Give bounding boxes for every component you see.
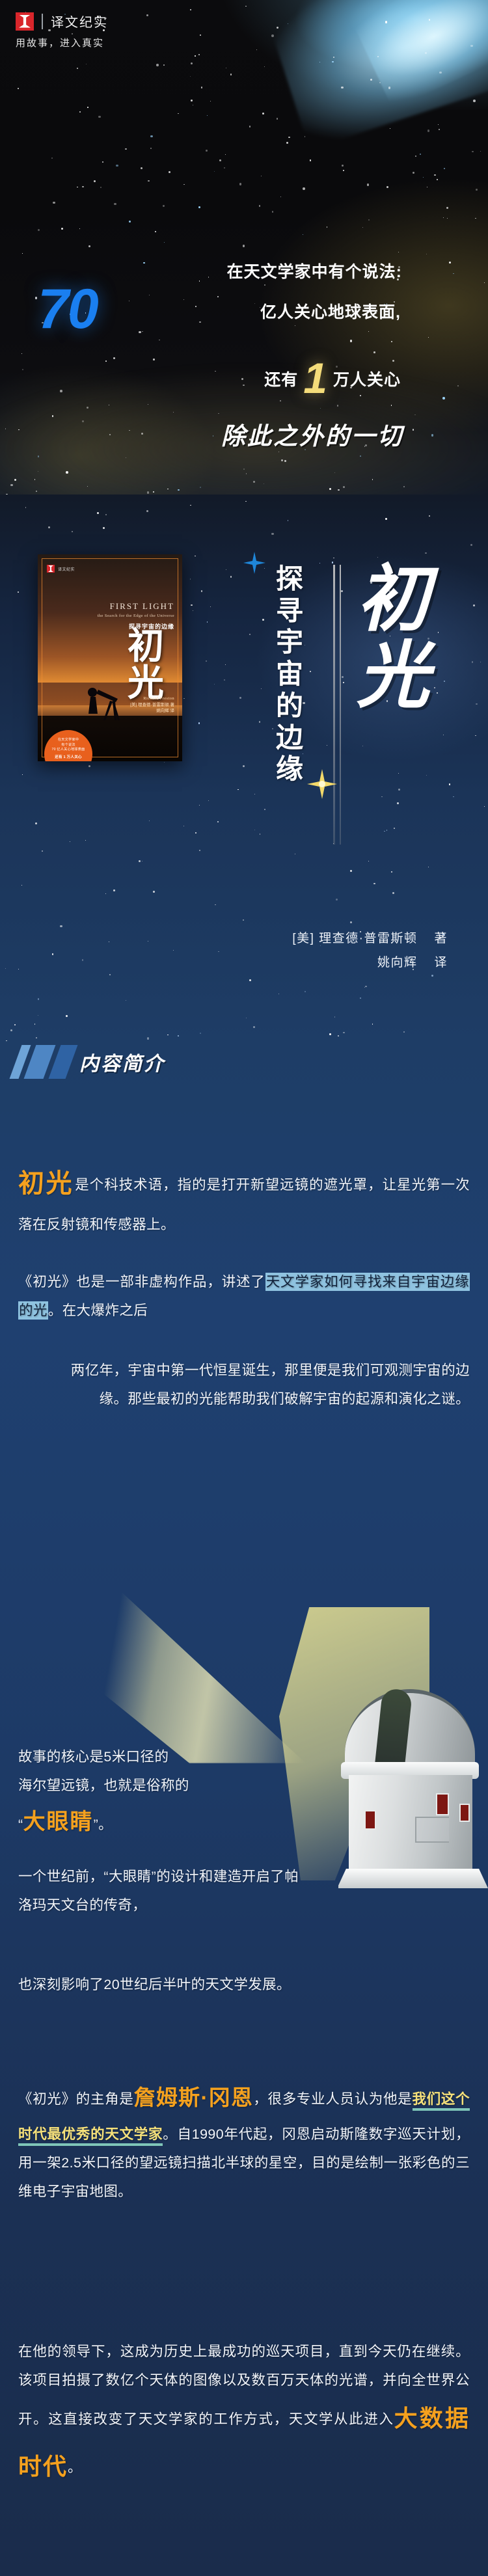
paragraph-sdss-legacy: 在他的领导下，这成为历史上最成功的巡天项目，直到今天仍在继续。该项目拍摄了数亿个… [18, 2337, 470, 2491]
four-point-star-icon [243, 552, 265, 574]
cover-translator-cn: 姚向辉 译 [130, 708, 174, 714]
paragraph-firststars: 两亿年，宇宙中第一代恒星诞生，那里便是我们可观测宇宙的边缘。那些最初的光能帮助我… [53, 1356, 470, 1413]
author-role: 著 [434, 932, 448, 945]
paragraph-hale-telescope: 故事的核心是5米口径的 海尔望远镜，也就是俗称的 “大眼睛”。 [18, 1742, 305, 1845]
dome-hemisphere [345, 1689, 475, 1774]
headline-line-2: 亿人关心地球表面, [0, 299, 401, 323]
paragraph-nonfiction: 《初光》也是一部非虚构作品，讲述了天文学家如何寻找来自宇宙边缘的光。在大爆炸之后 [18, 1268, 470, 1325]
gunn-text-before: 《初光》的主角是 [18, 2091, 134, 2107]
title-divider-line-2 [340, 565, 341, 845]
gunn-name: 詹姆斯·冈恩 [134, 2085, 254, 2109]
hero-section: 译文纪实 用故事，进入真实 在天文学家中有个说法: 70 亿人关心地球表面, 还… [0, 0, 488, 495]
cover-chinese-title: 初光 [116, 627, 176, 701]
cover-imprint-name: 译文纪实 [58, 566, 75, 572]
translator-role: 译 [434, 956, 448, 969]
dome-window-3 [459, 1804, 470, 1822]
badge-line-1: 在天文学家中 [58, 738, 79, 742]
cover-author-en: Richard Preston [130, 696, 174, 702]
legacy-text-after: 。 [68, 2460, 82, 2475]
headline-line-4: 除此之外的一切 [0, 416, 403, 452]
big-eye-nickname: 大眼睛 [23, 1810, 94, 1834]
vertical-subtitle: 探寻宇宙的边缘 [269, 563, 310, 785]
big-eye-quote-open: “ [18, 1817, 23, 1832]
author-name: [美] 理查德·普雷斯顿 [292, 932, 417, 945]
hale-line-1: 故事的核心是5米口径的 [18, 1749, 169, 1765]
gold-sparkle-icon [306, 768, 338, 800]
dome-window-2 [436, 1793, 449, 1815]
paragraph-definition-text: 是个科技术语，指的是打开新望远镜的遮光罩，让星光第一次落在反射镜和传感器上。 [18, 1177, 470, 1232]
observatory-dome-photo [338, 1689, 488, 1897]
paragraph-20th-century: 也深刻影响了20世纪后半叶的天文学发展。 [18, 1970, 470, 1999]
nonfiction-text-after: 。在大爆炸之后 [48, 1303, 148, 1318]
main-title: 初光 [357, 561, 474, 714]
cover-english-subtitle: the Search for the Edge of the Universe [98, 614, 174, 618]
paragraph-palomar: 一个世纪前，“大眼睛”的设计和建造开启了帕洛玛天文台的传奇， [18, 1862, 305, 1919]
cover-english-title: FIRST LIGHT [98, 601, 174, 612]
headline-line-3-after: 万人关心 [333, 371, 401, 389]
cover-imprint-logo: 译文纪实 [47, 565, 75, 573]
big-eye-quote-close: ” [94, 1817, 99, 1832]
headline-line-3: 还有1万人关心 [0, 363, 401, 394]
brand-slogan: 用故事，进入真实 [16, 36, 108, 49]
dome-slit [375, 1689, 413, 1769]
badge-line-3: 70 亿人关心地球表面 [52, 748, 85, 752]
credits-block: [美] 理查德·普雷斯顿著 姚向辉译 [0, 927, 448, 975]
title-divider-line-1 [333, 565, 335, 845]
badge-line-2: 有个说法 [61, 743, 75, 747]
badge-line-4: 还有 1 万人关心 [44, 755, 92, 760]
nonfiction-text-before: 《初光》也是一部非虚构作品，讲述了 [18, 1274, 265, 1290]
brand-logo: 译文纪实 用故事，进入真实 [16, 12, 108, 49]
paragraph-james-gunn: 《初光》的主角是詹姆斯·冈恩，很多专业人员认为他是我们这个时代最优秀的天文学家。… [18, 2076, 470, 2206]
translator-name: 姚向辉 [377, 956, 418, 969]
headline-number-1: 1 [303, 363, 328, 394]
logo-divider [42, 14, 43, 29]
hourglass-mark-icon [16, 12, 34, 31]
headline-line-3-before: 还有 [264, 371, 298, 389]
cover-author-cn: [美] 理查德·普雷斯顿 著 [130, 702, 174, 709]
book-cover-image: 译文纪实 FIRST LIGHT the Search for the Edge… [38, 554, 182, 761]
paragraph-lead-word: 初光 [18, 1169, 74, 1198]
hale-line-2: 海尔望远镜，也就是俗称的 [18, 1778, 189, 1793]
cover-hourglass-icon [47, 565, 55, 573]
gunn-text-mid: ，很多专业人员认为他是 [253, 2091, 412, 2107]
paragraph-definition: 初光是个科技术语，指的是打开新望远镜的遮光罩，让星光第一次落在反射镜和传感器上。 [18, 1157, 470, 1239]
big-eye-period: 。 [98, 1817, 113, 1832]
section-heading-label: 内容简介 [79, 1048, 165, 1076]
dome-base-platform [338, 1869, 488, 1888]
dome-railing [415, 1817, 449, 1843]
section-heading-intro: 内容简介 [0, 1040, 488, 1085]
cover-english-block: FIRST LIGHT the Search for the Edge of t… [98, 601, 174, 618]
brand-name: 译文纪实 [51, 12, 108, 31]
dome-window-1 [364, 1810, 376, 1830]
cover-author-block: Richard Preston [美] 理查德·普雷斯顿 著 姚向辉 译 [130, 696, 174, 714]
